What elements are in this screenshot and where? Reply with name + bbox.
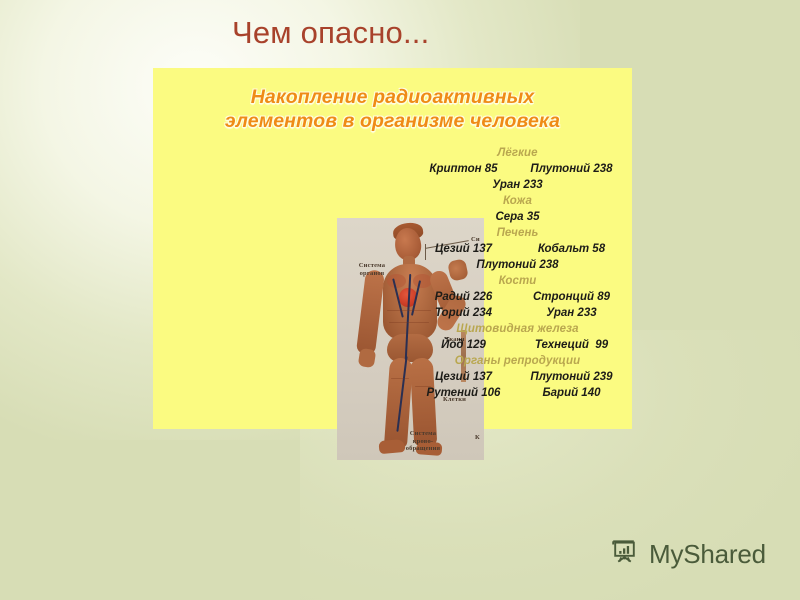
element-item: Уран 233 (492, 177, 542, 193)
element-row: Цезий 137Плутоний 239 (403, 369, 632, 385)
element-row: Йод 129Технеций 99 (403, 337, 632, 353)
card-heading-line-1: Накопление радиоактивных (251, 86, 535, 108)
element-item: Торий 234 (410, 305, 518, 321)
element-item: Цезий 137 (410, 369, 518, 385)
anatomy-label-circulation: Система крово- обращения (397, 430, 449, 453)
card-heading: Накопление радиоактивных элементов в орг… (153, 85, 632, 133)
element-row: Плутоний 238 (403, 257, 632, 273)
element-item: Сера 35 (495, 209, 539, 225)
element-row: Торий 234Уран 233 (403, 305, 632, 321)
element-item: Плутоний 238 (518, 161, 626, 177)
element-group-title: Кости (403, 273, 632, 289)
element-group-title: Кожа (403, 193, 632, 209)
anatomy-label-organs: Система органов (345, 262, 399, 277)
myshared-watermark: MyShared (610, 536, 766, 571)
element-item: Цезий 137 (410, 241, 518, 257)
card-heading-line-2: элементов в организме человека (153, 109, 632, 133)
anatomy-label-bottom-right: К (475, 434, 480, 442)
page-title: Чем опасно... (232, 14, 429, 52)
element-group-title: Органы репродукции (403, 353, 632, 369)
element-item: Кобальт 58 (518, 241, 626, 257)
element-item: Технеций 99 (518, 337, 626, 353)
slide-canvas: Чем опасно... Накопление радиоактивных э… (0, 0, 800, 600)
element-item: Стронций 89 (518, 289, 626, 305)
presentation-chart-icon (610, 536, 640, 571)
myshared-label: MyShared (649, 540, 766, 568)
element-group-title: Печень (403, 225, 632, 241)
element-item: Плутоний 239 (518, 369, 626, 385)
element-item: Барий 140 (518, 385, 626, 401)
element-item: Радий 226 (410, 289, 518, 305)
element-row: Рутений 106Барий 140 (403, 385, 632, 401)
element-group-title: Щитовидная железа (403, 321, 632, 337)
element-row: Радий 226Стронций 89 (403, 289, 632, 305)
element-row: Уран 233 (403, 177, 632, 193)
element-item: Криптон 85 (410, 161, 518, 177)
element-item: Рутений 106 (410, 385, 518, 401)
element-row: Сера 35 (403, 209, 632, 225)
element-group-title: Лёгкие (403, 145, 632, 161)
element-accumulation-list: ЛёгкиеКриптон 85Плутоний 238Уран 233Кожа… (403, 145, 632, 401)
element-item: Плутоний 238 (476, 257, 558, 273)
element-item: Уран 233 (518, 305, 626, 321)
content-card: Накопление радиоактивных элементов в орг… (153, 68, 632, 429)
element-row: Криптон 85Плутоний 238 (403, 161, 632, 177)
element-row: Цезий 137Кобальт 58 (403, 241, 632, 257)
element-item: Йод 129 (410, 337, 518, 353)
